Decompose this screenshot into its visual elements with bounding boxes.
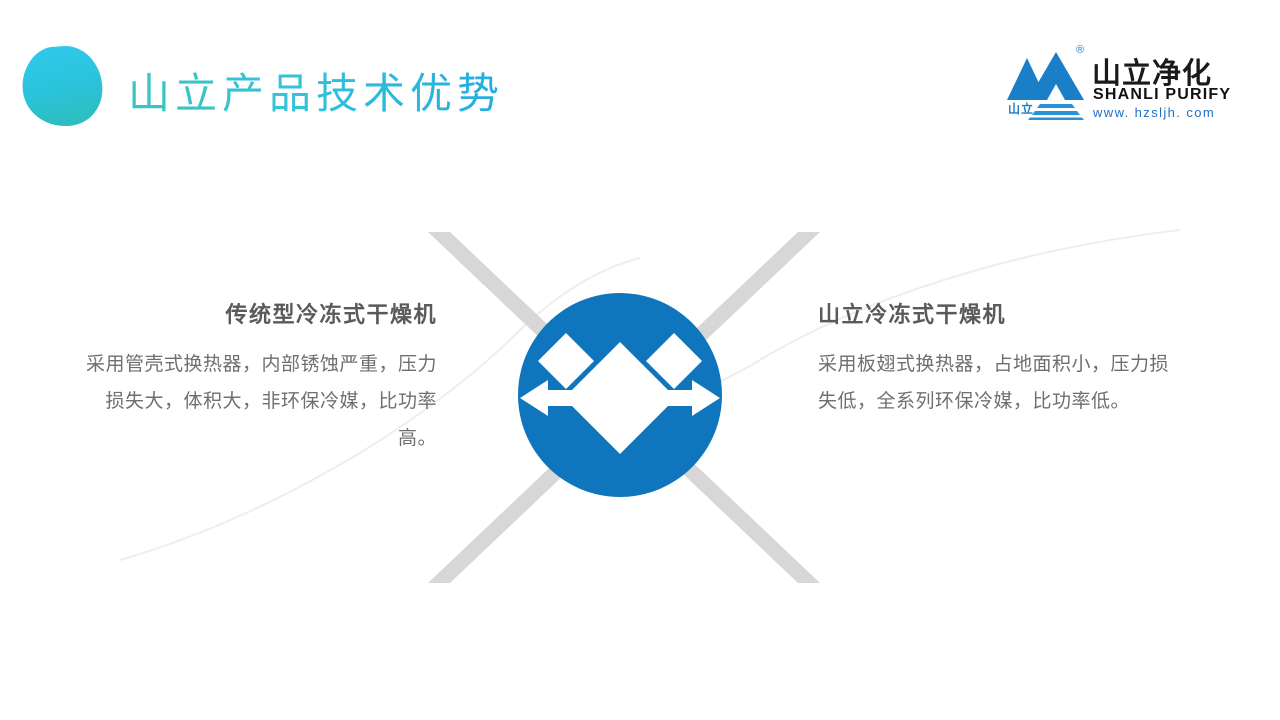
comparison-column-right: 山立冷冻式干燥机 采用板翅式换热器，占地面积小，压力损失低，全系列环保冷媒，比功… [818,300,1170,420]
left-column-body: 采用管壳式换热器，内部锈蚀严重，压力损失大，体积大，非环保冷媒，比功率高。 [85,346,437,457]
center-comparison-graphic [380,200,880,620]
logo-website[interactable]: www. hzsljh. com [1093,105,1215,120]
logo-name-en: SHANLI PURIFY [1093,86,1231,104]
comparison-column-left: 传统型冷冻式干燥机 采用管壳式换热器，内部锈蚀严重，压力损失大，体积大，非环保冷… [85,300,437,457]
slide-canvas: 山立产品技术优势 ® 山立 山立净化 SHANLI PURIFY www. hz… [0,0,1280,720]
logo-mark-label: 山立 [1008,100,1034,117]
registered-trademark-icon: ® [1076,44,1084,56]
left-column-title: 传统型冷冻式干燥机 [85,300,437,330]
right-column-title: 山立冷冻式干燥机 [818,300,1170,330]
right-column-body: 采用板翅式换热器，占地面积小，压力损失低，全系列环保冷媒，比功率低。 [818,346,1170,420]
decorative-blob [21,45,105,127]
page-title: 山立产品技术优势 [128,60,504,121]
company-logo[interactable]: ® 山立 山立净化 SHANLI PURIFY www. hzsljh. com [1004,42,1216,122]
